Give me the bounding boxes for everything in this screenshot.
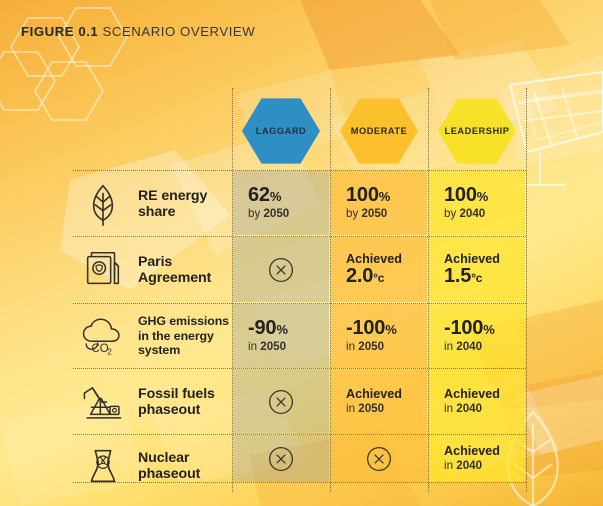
cell-fossil-moderate: Achieved in 2050 [331, 369, 427, 434]
cell-achieved-label: Achieved [346, 387, 427, 401]
cell-subvalue: in 2040 [444, 460, 525, 473]
cell-achieved-label: Achieved [444, 387, 525, 401]
cell-nuclear-laggard [233, 435, 329, 482]
cell-subvalue: by 2040 [444, 208, 525, 221]
co2-cloud-icon: CO 2 [80, 313, 126, 359]
figure-title-text: SCENARIO OVERVIEW [98, 24, 255, 39]
row-label-re-energy-share: RE energy share [80, 174, 230, 234]
row-label-text: RE energy share [138, 188, 207, 221]
cell-subvalue: in 2040 [444, 341, 525, 354]
cell-value: 2.0°c [346, 266, 427, 287]
cell-value: -90% [248, 318, 329, 339]
row-label-text: Nuclear phaseout [138, 450, 200, 483]
figure-container: FIGURE 0.1 SCENARIO OVERVIEW LAGGARD MOD… [0, 0, 603, 506]
row-label-text: Paris Agreement [138, 254, 211, 287]
cross-circle-icon [267, 445, 295, 473]
cell-achieved-label: Achieved [444, 444, 525, 458]
cell-subvalue: by 2050 [248, 208, 329, 221]
svg-text:2: 2 [107, 348, 112, 357]
column-header-leadership-label: LEADERSHIP [445, 126, 510, 136]
cell-value: -100% [444, 318, 525, 339]
cell-ghg-laggard: -90% in 2050 [233, 304, 329, 368]
cell-fossil-leadership: Achieved in 2040 [429, 369, 525, 434]
column-header-laggard[interactable]: LAGGARD [242, 97, 320, 165]
cell-value: 62% [248, 185, 329, 206]
row-label-ghg-emissions: CO 2 GHG emissions in the energy system [80, 306, 232, 366]
row-label-nuclear-phaseout: Nuclear phaseout [80, 438, 230, 494]
cross-circle-icon [267, 388, 295, 416]
cell-achieved-label: Achieved [346, 252, 427, 266]
cell-value: -100% [346, 318, 427, 339]
cell-nuclear-leadership: Achieved in 2040 [429, 435, 525, 482]
column-header-moderate-label: MODERATE [351, 126, 408, 136]
scenario-table: LAGGARD MODERATE LEADERSHIP RE energy sh… [0, 52, 603, 492]
figure-number: FIGURE 0.1 [21, 24, 98, 39]
cell-re-energy-moderate: 100% by 2050 [331, 171, 427, 235]
column-header-leadership[interactable]: LEADERSHIP [438, 97, 516, 165]
column-header-moderate[interactable]: MODERATE [340, 97, 418, 165]
cell-nuclear-moderate [331, 435, 427, 482]
cell-paris-leadership: Achieved 1.5°c [429, 237, 525, 302]
svg-text:CO: CO [92, 343, 109, 355]
cell-paris-moderate: Achieved 2.0°c [331, 237, 427, 302]
cell-re-energy-laggard: 62% by 2050 [233, 171, 329, 235]
oil-pumpjack-icon [80, 379, 126, 425]
row-label-text: Fossil fuels phaseout [138, 386, 215, 419]
row-label-fossil-fuels-phaseout: Fossil fuels phaseout [80, 372, 230, 432]
header-band: FIGURE 0.1 SCENARIO OVERVIEW [0, 0, 603, 52]
cell-ghg-leadership: -100% in 2040 [429, 304, 525, 368]
leaf-icon [80, 181, 126, 227]
cell-achieved-label: Achieved [444, 252, 525, 266]
cell-subvalue: in 2040 [444, 403, 525, 416]
cell-value: 1.5°c [444, 266, 525, 287]
row-label-paris-agreement: Paris Agreement [80, 240, 230, 300]
page-title: FIGURE 0.1 SCENARIO OVERVIEW [21, 24, 255, 39]
cross-circle-icon [267, 256, 295, 284]
cell-subvalue: in 2050 [346, 341, 427, 354]
cell-value: 100% [444, 185, 525, 206]
column-separator-4 [526, 88, 527, 492]
cell-ghg-moderate: -100% in 2050 [331, 304, 427, 368]
cell-subvalue: by 2050 [346, 208, 427, 221]
column-header-laggard-label: LAGGARD [256, 126, 307, 136]
cell-value: 100% [346, 185, 427, 206]
cell-subvalue: in 2050 [346, 403, 427, 416]
cell-re-energy-leadership: 100% by 2040 [429, 171, 525, 235]
row-label-text: GHG emissions in the energy system [138, 314, 229, 359]
cross-circle-icon [365, 445, 393, 473]
cell-paris-laggard [233, 237, 329, 302]
agreement-document-icon [80, 247, 126, 293]
nuclear-plant-icon [80, 443, 126, 489]
cell-fossil-laggard [233, 369, 329, 434]
cell-subvalue: in 2050 [248, 341, 329, 354]
